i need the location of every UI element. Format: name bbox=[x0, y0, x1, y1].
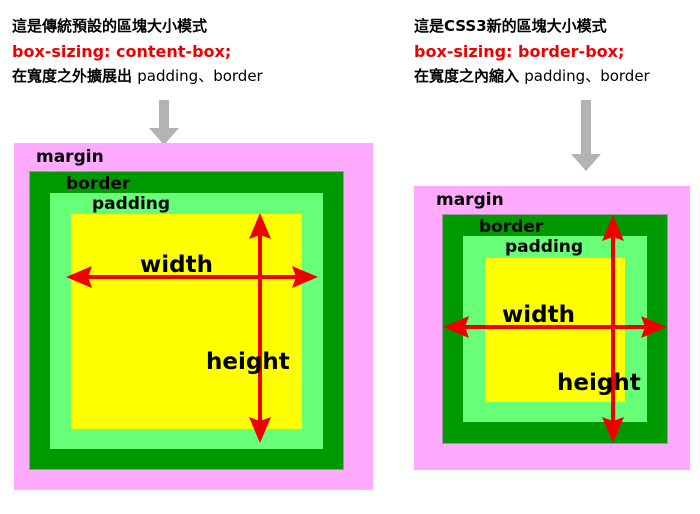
caption-line-3-bold: 在寬度之外擴展出 bbox=[12, 67, 132, 85]
margin-box-right: margin border padding width h bbox=[414, 186, 690, 470]
width-label-left: width bbox=[140, 253, 213, 278]
caption-code-line: box-sizing: content-box; bbox=[12, 39, 263, 64]
measurement-arrows-right bbox=[414, 186, 690, 470]
caption-line-1: 這是CSS3新的區塊大小模式 bbox=[414, 14, 650, 39]
caption-border-box: 這是CSS3新的區塊大小模式 box-sizing: border-box; 在… bbox=[414, 14, 650, 89]
caption-code-line: box-sizing: border-box; bbox=[414, 39, 650, 64]
arrow-down-icon-left bbox=[148, 100, 180, 146]
caption-content-box: 這是傳統預設的區塊大小模式 box-sizing: content-box; 在… bbox=[12, 14, 263, 89]
width-label-right: width bbox=[502, 303, 575, 328]
diagram-canvas: 這是傳統預設的區塊大小模式 box-sizing: content-box; 在… bbox=[0, 0, 700, 514]
height-label-right: height bbox=[557, 371, 641, 396]
height-label-left: height bbox=[206, 350, 290, 375]
caption-line-1: 這是傳統預設的區塊大小模式 bbox=[12, 14, 263, 39]
margin-box-left: margin border padding width h bbox=[14, 143, 373, 490]
caption-line-3-thin: padding、border bbox=[524, 67, 649, 85]
arrow-down-icon-right bbox=[570, 100, 602, 172]
caption-line-3: 在寬度之外擴展出 padding、border bbox=[12, 64, 263, 89]
caption-line-3-thin: padding、border bbox=[137, 67, 262, 85]
measurement-arrows-left bbox=[14, 143, 373, 490]
caption-line-3-bold: 在寬度之內縮入 bbox=[414, 67, 519, 85]
caption-line-3: 在寬度之內縮入 padding、border bbox=[414, 64, 650, 89]
height-arrow-left bbox=[249, 213, 271, 443]
